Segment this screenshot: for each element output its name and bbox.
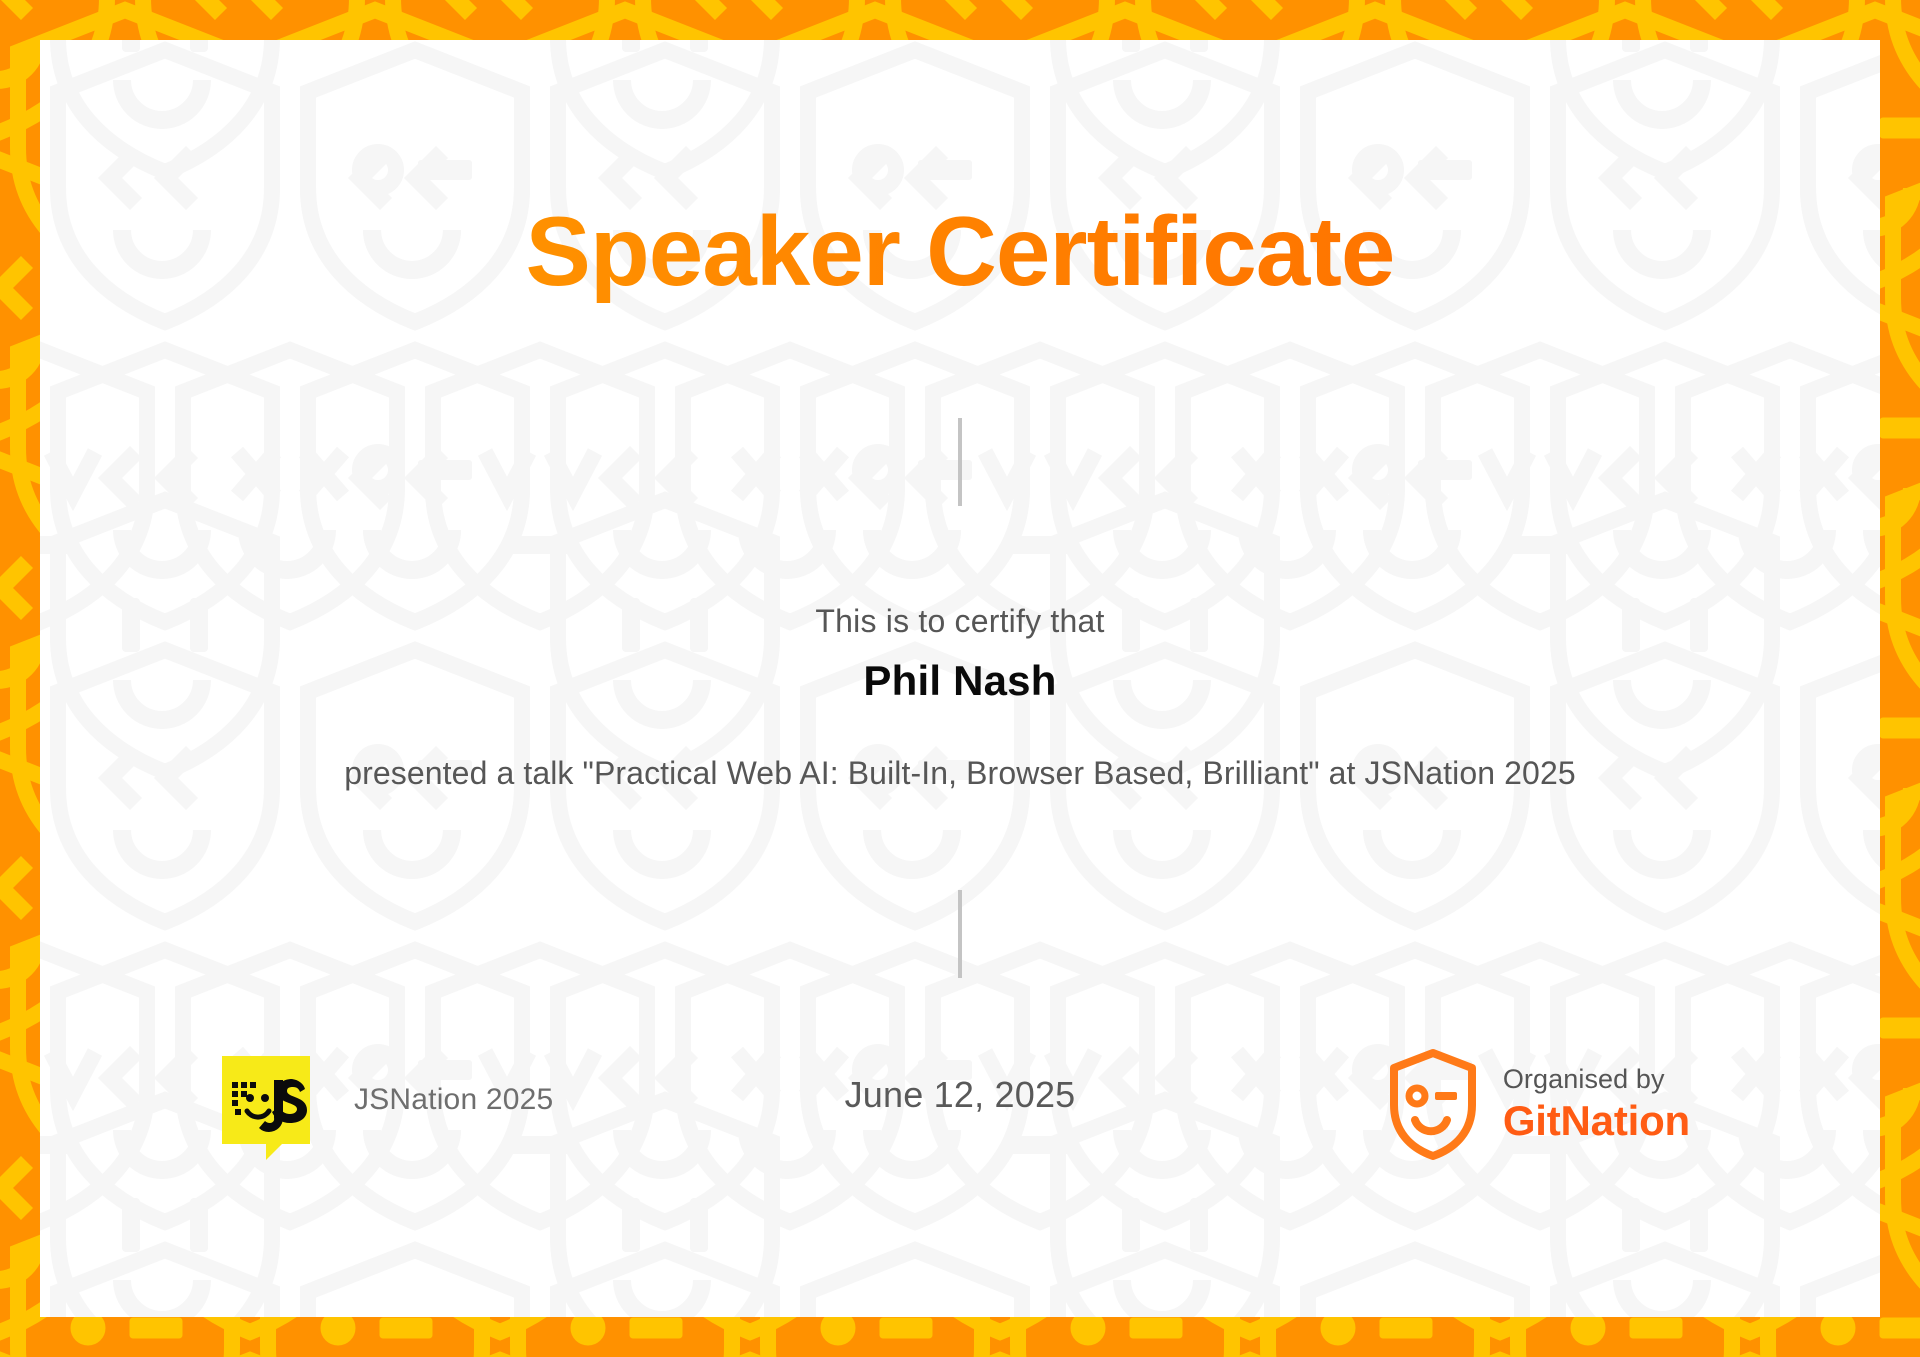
certify-line: This is to certify that — [40, 603, 1880, 640]
organised-by-label: Organised by — [1503, 1063, 1690, 1097]
organiser-name: GitNation — [1503, 1097, 1690, 1145]
gitnation-shield-icon — [1387, 1048, 1479, 1160]
certificate-frame: Speaker Certificate This is to certify t… — [0, 0, 1920, 1357]
talk-description: presented a talk "Practical Web AI: Buil… — [220, 752, 1700, 794]
certificate-footer: JSNation 2025 June 12, 2025 Organised by… — [40, 1040, 1880, 1240]
page-title: Speaker Certificate — [40, 200, 1880, 303]
js-logo-tail — [266, 1142, 284, 1160]
divider-top — [958, 418, 962, 506]
footer-organiser-block: Organised by GitNation — [1387, 1048, 1690, 1160]
certificate-card: Speaker Certificate This is to certify t… — [40, 40, 1880, 1317]
recipient-name: Phil Nash — [40, 657, 1880, 705]
divider-bottom — [958, 890, 962, 978]
